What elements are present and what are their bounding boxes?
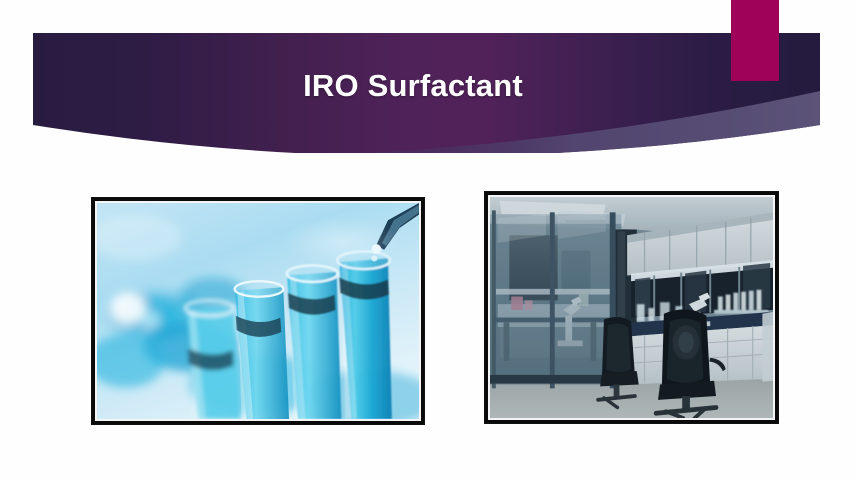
test-tube-front xyxy=(185,300,240,419)
photo-mat xyxy=(488,195,775,420)
slide-title: IRO Surfactant xyxy=(33,33,793,138)
test-tubes-photo xyxy=(97,203,419,419)
test-tubes-photo-frame xyxy=(92,198,424,424)
presentation-slide: IRO Surfactant xyxy=(0,0,854,480)
test-tube-three xyxy=(287,266,341,419)
test-tube-two xyxy=(235,281,289,419)
test-tube-rear xyxy=(338,252,392,419)
laboratory-room-photo xyxy=(490,197,773,418)
laboratory-photo-frame xyxy=(485,192,778,423)
photo-mat xyxy=(95,201,421,421)
title-banner: IRO Surfactant xyxy=(33,33,820,153)
